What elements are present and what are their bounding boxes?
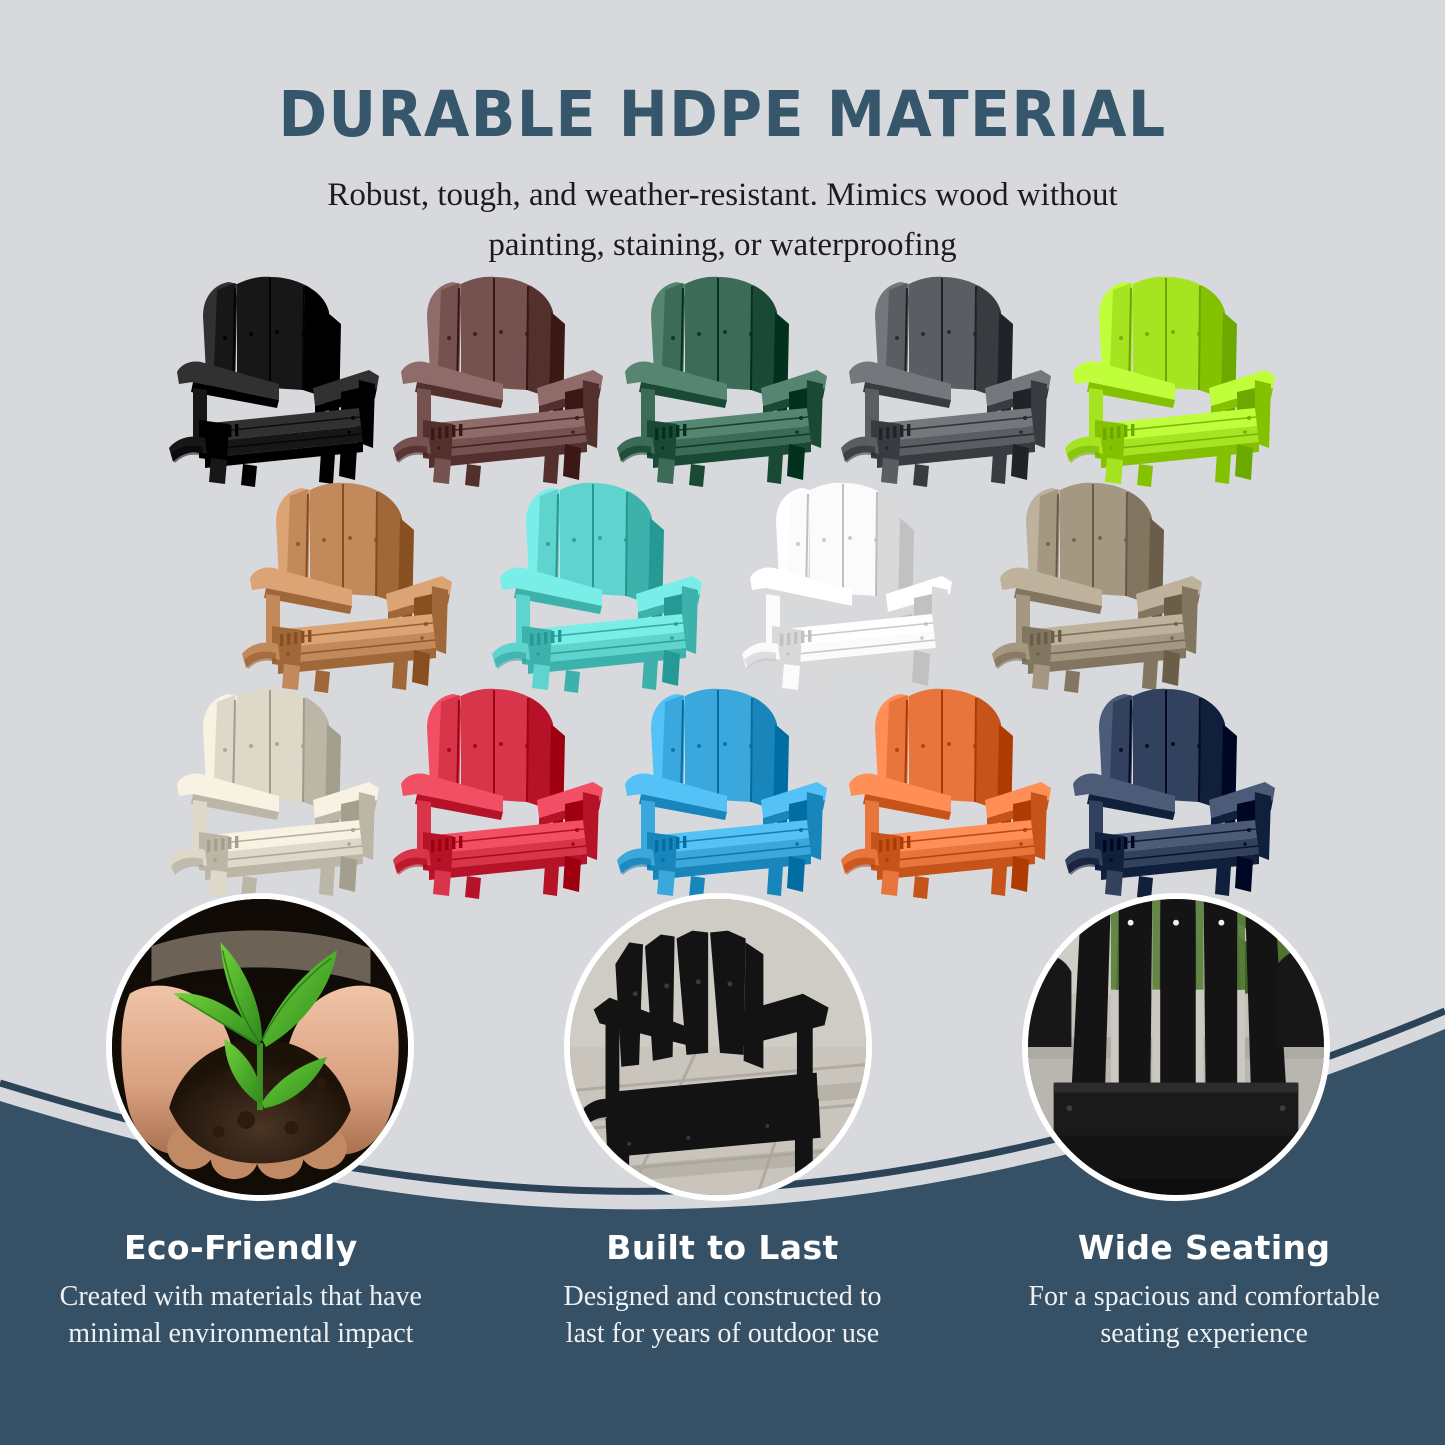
adirondack-chair-icon xyxy=(973,478,1223,693)
feature-desc-line-1: For a spacious and comfortable xyxy=(981,1279,1427,1316)
infographic-canvas: DURABLE HDPE MATERIAL Robust, tough, and… xyxy=(0,0,1445,1445)
chair-row-1 xyxy=(0,272,1445,487)
page-title: DURABLE HDPE MATERIAL xyxy=(51,78,1395,151)
adirondack-chair-icon xyxy=(1059,272,1283,487)
feature-desc-line-1: Created with materials that have xyxy=(18,1279,464,1316)
hands-holding-seedling-icon xyxy=(112,899,408,1195)
feature-description: For a spacious and comfortable seating e… xyxy=(981,1279,1427,1353)
chair-swatch-ivory[interactable] xyxy=(163,684,387,899)
chair-swatch-orange[interactable] xyxy=(835,684,1059,899)
chair-swatch-gray[interactable] xyxy=(835,272,1059,487)
chair-swatch-dark-green[interactable] xyxy=(611,272,835,487)
chair-color-grid xyxy=(0,272,1445,902)
adirondack-chair-icon xyxy=(387,684,611,899)
feature-title: Wide Seating xyxy=(981,1228,1427,1267)
feature-circles xyxy=(0,893,1445,1223)
chair-swatch-black[interactable] xyxy=(163,272,387,487)
adirondack-chair-icon xyxy=(163,684,387,899)
chair-swatch-khaki[interactable] xyxy=(973,478,1223,693)
adirondack-chair-icon xyxy=(835,684,1059,899)
adirondack-chair-icon xyxy=(473,478,723,693)
chair-seat-closeup-icon xyxy=(1028,899,1324,1195)
adirondack-chair-icon xyxy=(163,272,387,487)
chair-swatch-light-blue[interactable] xyxy=(611,684,835,899)
chair-swatch-red[interactable] xyxy=(387,684,611,899)
feature-circle-eco-friendly xyxy=(106,893,414,1201)
subtitle-line-1: Robust, tough, and weather-resistant. Mi… xyxy=(0,170,1445,220)
page-subtitle: Robust, tough, and weather-resistant. Mi… xyxy=(0,170,1445,270)
chair-row-3 xyxy=(0,684,1445,899)
subtitle-line-2: painting, staining, or waterproofing xyxy=(0,220,1445,270)
adirondack-chair-icon xyxy=(723,478,973,693)
chair-swatch-navy-blue[interactable] xyxy=(1059,684,1283,899)
feature-desc-line-1: Designed and constructed to xyxy=(500,1279,946,1316)
feature-circle-built-to-last xyxy=(564,893,872,1201)
adirondack-chair-icon xyxy=(835,272,1059,487)
feature-built-to-last: Built to Last Designed and constructed t… xyxy=(482,1228,964,1353)
chair-swatch-teak[interactable] xyxy=(223,478,473,693)
black-chair-on-patio-icon xyxy=(570,899,866,1195)
adirondack-chair-icon xyxy=(611,684,835,899)
feature-desc-line-2: last for years of outdoor use xyxy=(500,1316,946,1353)
feature-circle-wide-seating xyxy=(1022,893,1330,1201)
feature-eco-friendly: Eco-Friendly Created with materials that… xyxy=(0,1228,482,1353)
feature-desc-line-2: seating experience xyxy=(981,1316,1427,1353)
feature-description: Created with materials that have minimal… xyxy=(18,1279,464,1353)
chair-swatch-brown[interactable] xyxy=(387,272,611,487)
feature-title: Eco-Friendly xyxy=(18,1228,464,1267)
chair-swatch-turquoise[interactable] xyxy=(473,478,723,693)
feature-title: Built to Last xyxy=(500,1228,946,1267)
adirondack-chair-icon xyxy=(611,272,835,487)
feature-description: Designed and constructed to last for yea… xyxy=(500,1279,946,1353)
feature-desc-line-2: minimal environmental impact xyxy=(18,1316,464,1353)
adirondack-chair-icon xyxy=(1059,684,1283,899)
adirondack-chair-icon xyxy=(223,478,473,693)
feature-wide-seating: Wide Seating For a spacious and comforta… xyxy=(963,1228,1445,1353)
chair-row-2 xyxy=(0,478,1445,693)
chair-swatch-white[interactable] xyxy=(723,478,973,693)
adirondack-chair-icon xyxy=(387,272,611,487)
feature-text-row: Eco-Friendly Created with materials that… xyxy=(0,1228,1445,1353)
chair-swatch-lime-green[interactable] xyxy=(1059,272,1283,487)
